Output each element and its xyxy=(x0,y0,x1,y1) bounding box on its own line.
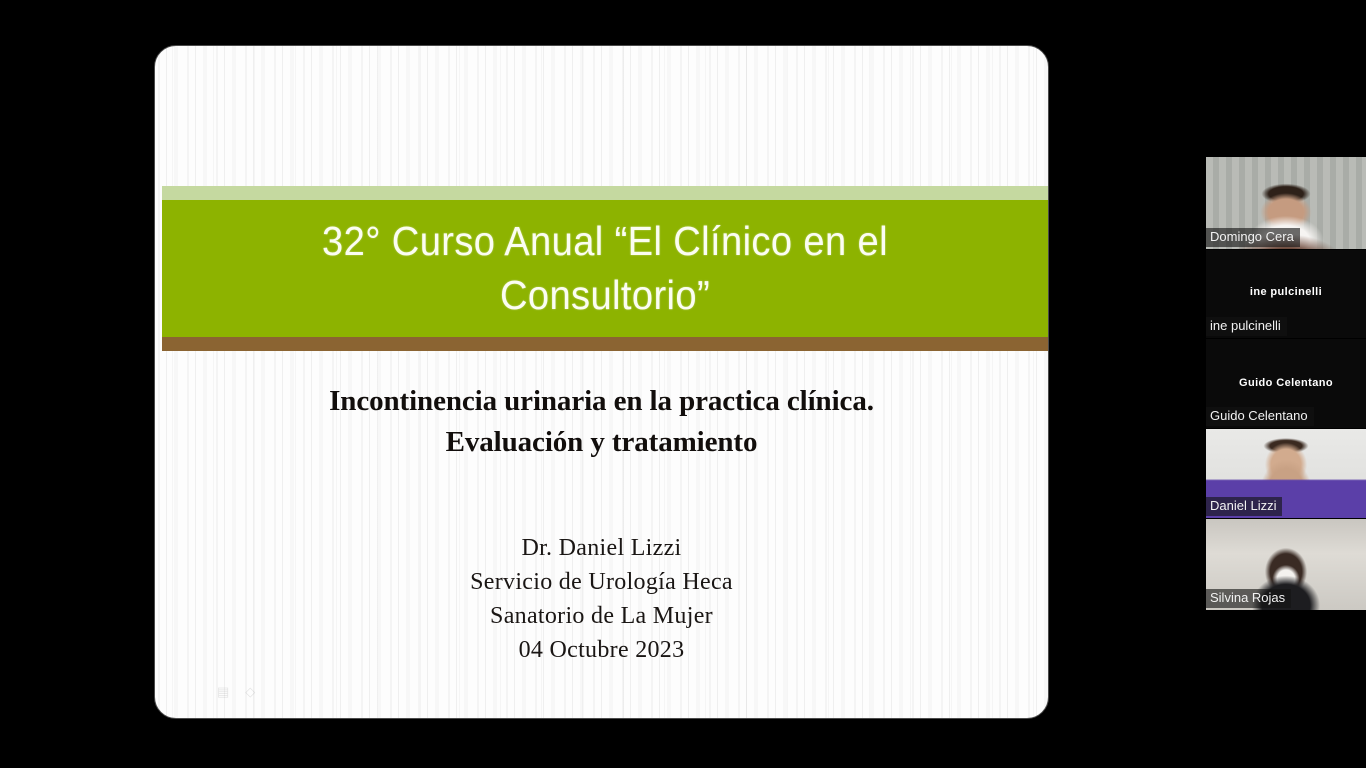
author-name: Dr. Daniel Lizzi xyxy=(195,531,1008,565)
participant-name-badge: Guido Celentano xyxy=(1206,407,1314,426)
author-affiliation-1: Servicio de Urología Heca xyxy=(195,565,1008,599)
participant-name-badge: Daniel Lizzi xyxy=(1206,497,1282,516)
slide-subtitle-line-2: Evaluación y tratamiento xyxy=(195,422,1008,463)
participant-tile-silvina-rojas[interactable]: Silvina Rojas xyxy=(1206,519,1366,610)
slide-title: 32° Curso Anual “El Clínico en el Consul… xyxy=(193,215,1017,322)
slide-author-block: Dr. Daniel Lizzi Servicio de Urología He… xyxy=(195,531,1008,667)
presentation-date: 04 Octubre 2023 xyxy=(195,633,1008,667)
screen-share-view: 32° Curso Anual “El Clínico en el Consul… xyxy=(0,0,1366,768)
participant-tile-guido-celentano[interactable]: Guido Celentano Guido Celentano xyxy=(1206,339,1366,428)
participant-placeholder-name: Guido Celentano xyxy=(1206,377,1366,389)
band-body: 32° Curso Anual “El Clínico en el Consul… xyxy=(162,200,1048,337)
participant-placeholder-name: ine pulcinelli xyxy=(1206,286,1366,298)
shared-slide-stage: 32° Curso Anual “El Clínico en el Consul… xyxy=(154,45,1049,719)
participant-tile-daniel-lizzi[interactable]: Daniel Lizzi xyxy=(1206,429,1366,518)
band-top-accent-strip xyxy=(162,186,1048,200)
participant-name-badge: Silvina Rojas xyxy=(1206,589,1291,608)
slide-footer-watermark: ▤ ◇ xyxy=(217,684,255,700)
participant-name-badge: Domingo Cera xyxy=(1206,228,1300,247)
slide-title-band: 32° Curso Anual “El Clínico en el Consul… xyxy=(162,186,1048,351)
slide-subtitle-line-1: Incontinencia urinaria en la practica cl… xyxy=(195,381,1008,422)
participant-name-badge: ine pulcinelli xyxy=(1206,317,1287,336)
slide-subtitle: Incontinencia urinaria en la practica cl… xyxy=(195,381,1008,464)
footer-mark-icon-2: ◇ xyxy=(245,684,255,700)
participant-tile-domingo-cera[interactable]: Domingo Cera xyxy=(1206,157,1366,249)
footer-mark-icon-1: ▤ xyxy=(217,684,229,700)
participant-filmstrip[interactable]: Domingo Cera ine pulcinelli ine pulcinel… xyxy=(1206,157,1366,610)
author-affiliation-2: Sanatorio de La Mujer xyxy=(195,599,1008,633)
participant-tile-ine-pulcinelli[interactable]: ine pulcinelli ine pulcinelli xyxy=(1206,250,1366,338)
band-bottom-accent-strip xyxy=(162,337,1048,351)
presentation-slide: 32° Curso Anual “El Clínico en el Consul… xyxy=(154,45,1049,719)
